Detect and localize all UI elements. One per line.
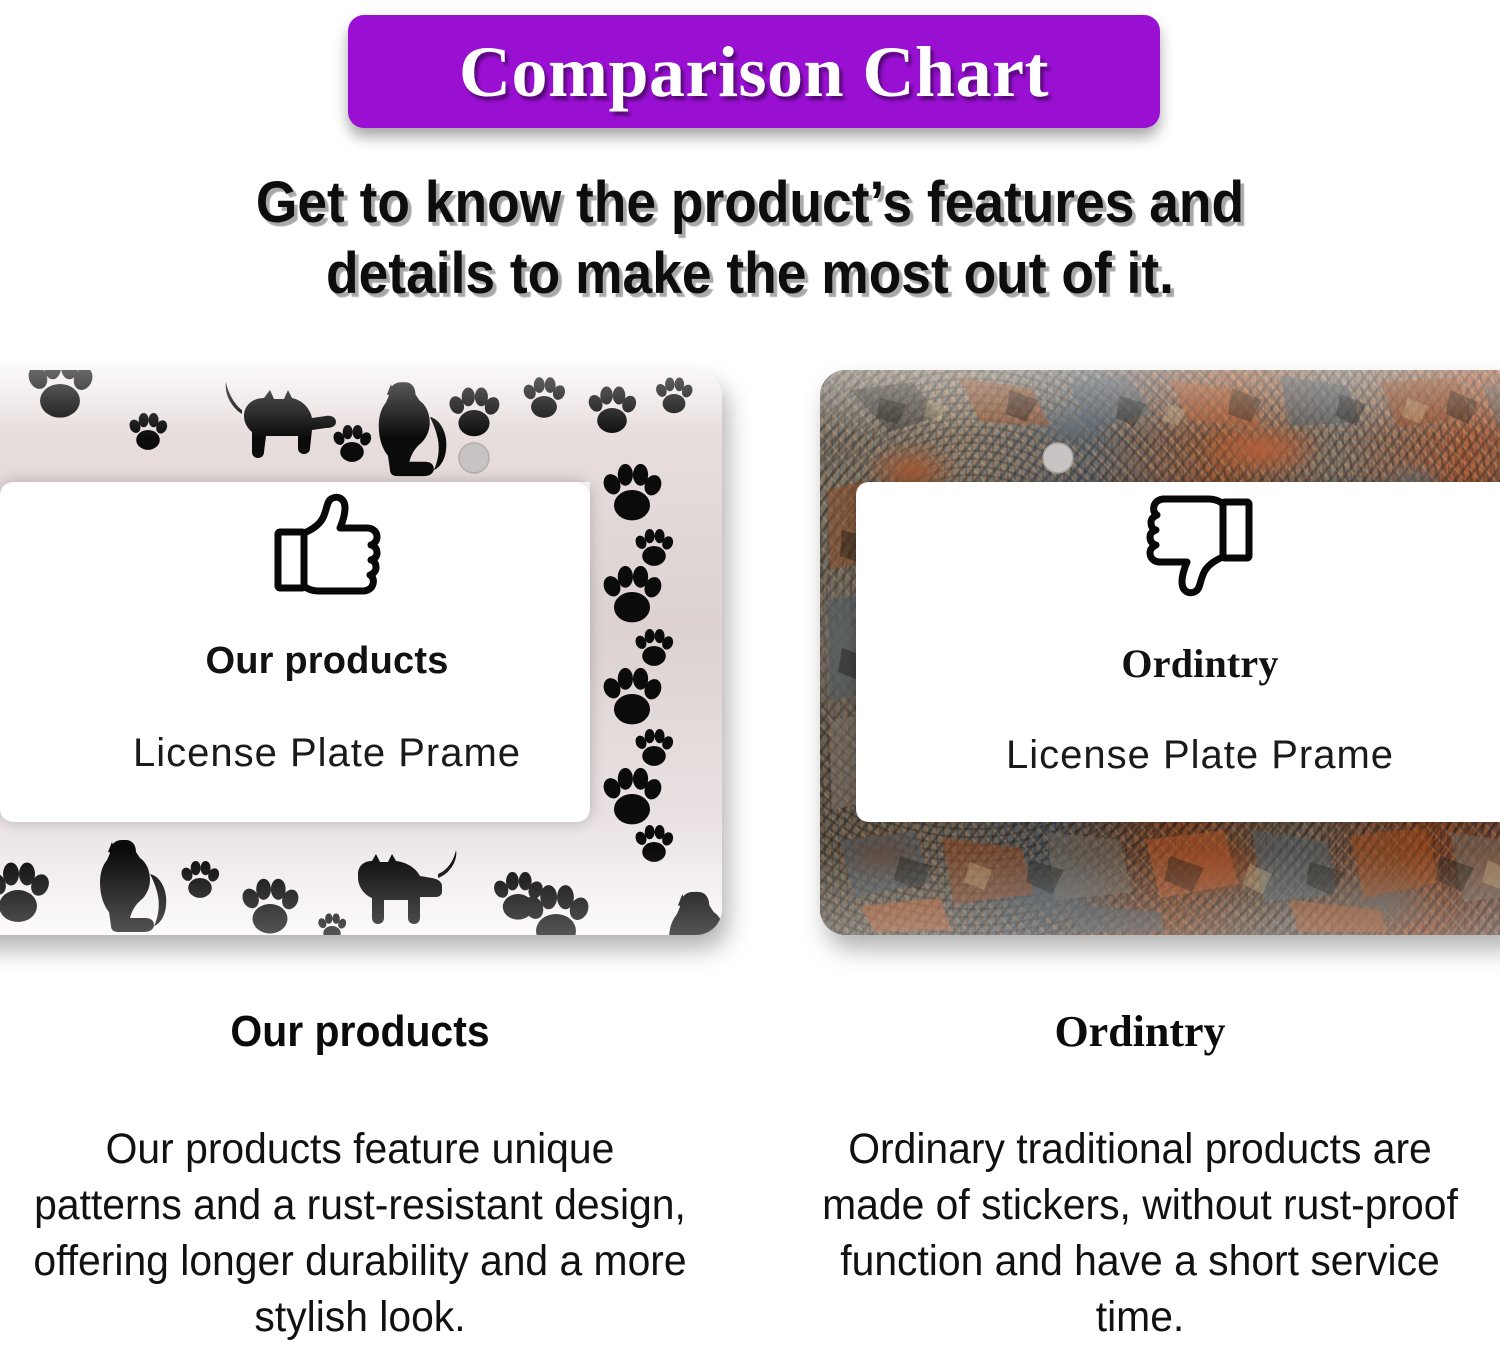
product-panels: Our products License Plate Prame xyxy=(0,352,1500,972)
thumbs-up-icon xyxy=(271,492,383,598)
left-description-column: Our products Our products feature unique… xyxy=(10,1010,710,1346)
right-plate-subtitle: License Plate Prame xyxy=(820,733,1500,778)
subtitle: Get to know the product’s features and d… xyxy=(180,168,1321,310)
left-product-panel: Our products License Plate Prame xyxy=(0,352,722,952)
subtitle-line-2: details to make the most out of it. xyxy=(180,239,1321,310)
right-product-panel: Ordintry License Plate Prame xyxy=(820,352,1500,952)
thumbs-down-icon xyxy=(1144,492,1256,598)
left-plate-title: Our products xyxy=(0,640,722,683)
right-plate-title: Ordintry xyxy=(820,640,1500,687)
right-description-text: Ordinary traditional products are made o… xyxy=(808,1122,1473,1346)
left-description-text: Our products feature unique patterns and… xyxy=(28,1122,693,1346)
left-description-heading: Our products xyxy=(35,1010,686,1054)
title-banner: Comparison Chart xyxy=(348,15,1160,128)
page-title: Comparison Chart xyxy=(459,36,1049,108)
right-description-heading: Ordintry xyxy=(790,1010,1490,1054)
comparison-descriptions: Our products Our products feature unique… xyxy=(0,1010,1500,1364)
subtitle-line-1: Get to know the product’s features and xyxy=(180,168,1321,239)
comparison-chart-page: Comparison Chart Get to know the product… xyxy=(0,0,1500,1364)
right-description-column: Ordintry Ordinary traditional products a… xyxy=(790,1010,1490,1346)
left-plate-subtitle: License Plate Prame xyxy=(0,731,722,776)
left-plate-content: Our products License Plate Prame xyxy=(0,492,722,776)
right-plate-content: Ordintry License Plate Prame xyxy=(820,492,1500,778)
